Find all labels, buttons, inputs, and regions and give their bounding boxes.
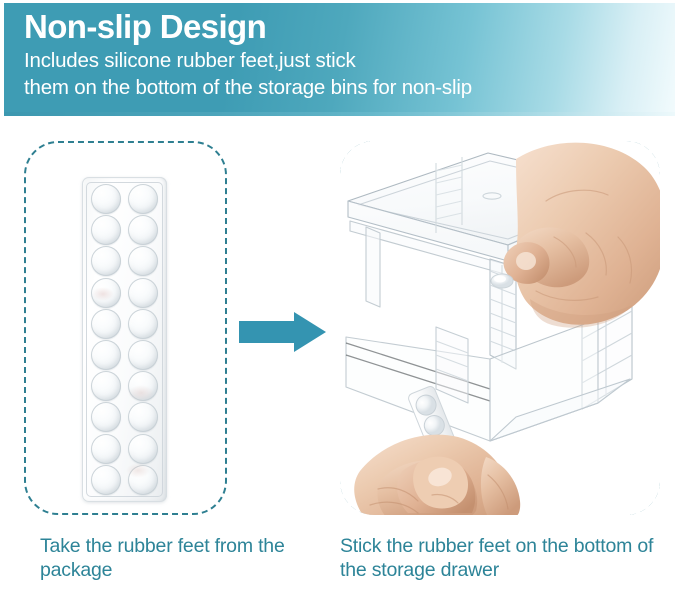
rubber-foot	[125, 278, 161, 308]
rubber-foot	[88, 402, 124, 432]
banner-subtitle-line-2: them on the bottom of the storage bins f…	[24, 75, 472, 101]
storage-drawer-scene-image	[340, 141, 660, 515]
step-1-caption: Take the rubber feet from the package	[40, 534, 290, 582]
rubber-foot	[125, 184, 161, 214]
rubber-foot	[88, 278, 124, 308]
rubber-foot	[125, 465, 161, 495]
rubber-foot	[125, 434, 161, 464]
rubber-foot	[88, 246, 124, 276]
page-title: Non-slip Design	[24, 7, 266, 47]
rubber-foot	[88, 215, 124, 245]
rubber-foot	[88, 184, 124, 214]
rubber-foot	[88, 340, 124, 370]
header-banner: Non-slip Design Includes silicone rubber…	[4, 3, 675, 116]
applied-rubber-foot	[491, 274, 513, 288]
storage-drawer-illustration	[340, 141, 660, 515]
rubber-foot	[125, 402, 161, 432]
blister-pack-image	[82, 177, 167, 502]
step-2-caption: Stick the rubber feet on the bottom of t…	[340, 534, 670, 582]
upper-hand	[504, 143, 661, 328]
rubber-foot	[125, 246, 161, 276]
rubber-foot	[88, 309, 124, 339]
rubber-foot	[125, 340, 161, 370]
rubber-foot	[88, 465, 124, 495]
rubber-feet-grid	[87, 183, 162, 496]
rubber-foot	[125, 371, 161, 401]
flow-arrow-icon	[239, 311, 327, 353]
rubber-foot	[88, 371, 124, 401]
rubber-foot	[125, 215, 161, 245]
banner-subtitle-line-1: Includes silicone rubber feet,just stick	[24, 48, 356, 74]
rubber-foot	[88, 434, 124, 464]
rubber-foot	[125, 309, 161, 339]
